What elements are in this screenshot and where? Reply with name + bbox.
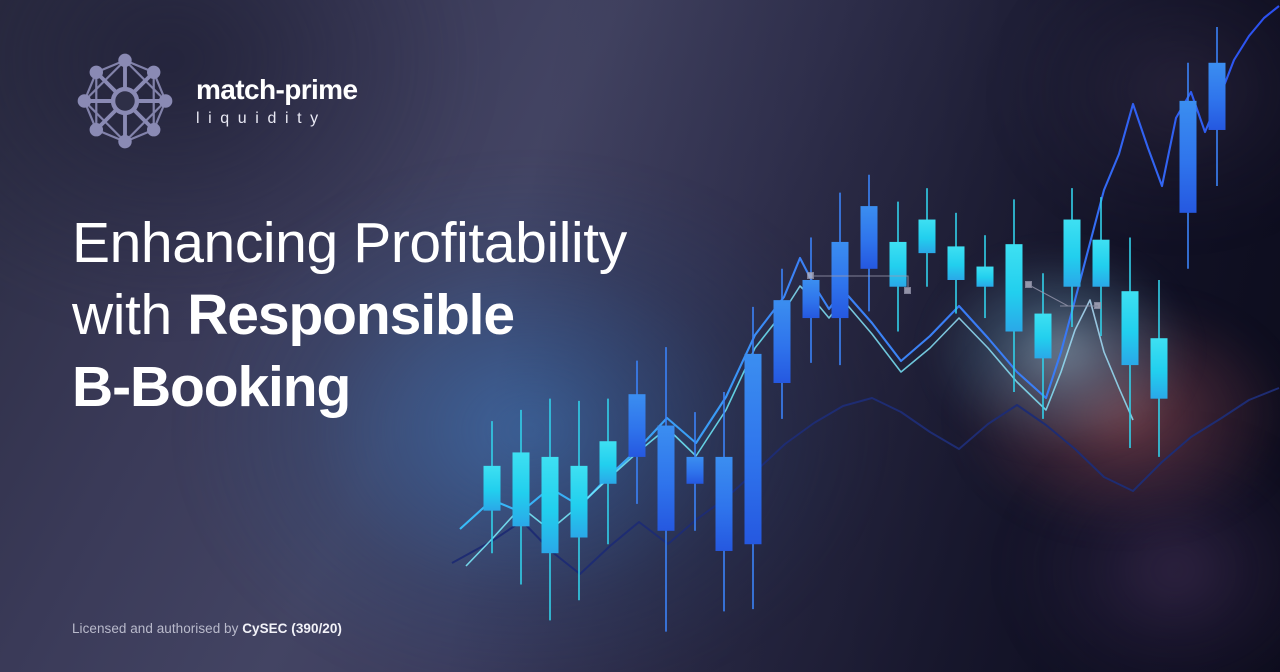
network-node-snowflake-icon	[72, 48, 178, 154]
headline-line-2-bold: Responsible	[187, 283, 514, 347]
candle-body	[687, 457, 704, 484]
candle-body	[484, 466, 501, 511]
license-prefix: Licensed and authorised by	[72, 621, 242, 636]
brand-wordmark: match-prime liquidity	[196, 72, 357, 129]
candle-body	[745, 354, 762, 544]
candle-body	[919, 220, 936, 254]
candle-body	[1209, 63, 1226, 130]
candle-body	[1035, 314, 1052, 359]
candle-body	[977, 267, 994, 287]
candle-body	[832, 242, 849, 318]
brand-subtitle: liquidity	[196, 108, 357, 130]
candle-body	[948, 246, 965, 280]
candle-body	[890, 242, 907, 287]
candle-body	[571, 466, 588, 538]
headline-line-2-light: with	[72, 283, 187, 347]
brand-logo[interactable]: match-prime liquidity	[72, 48, 357, 154]
candle-body	[1064, 220, 1081, 287]
candle-body	[1006, 244, 1023, 331]
banner-root: match-prime liquidity Enhancing Profitab…	[0, 0, 1280, 672]
candle-body	[774, 300, 791, 383]
headline-line-3: B-Booking	[72, 351, 712, 423]
brand-name: match-prime	[196, 76, 357, 105]
candle-body	[513, 452, 530, 526]
candle-body	[600, 441, 617, 484]
candle-body	[1093, 240, 1110, 287]
headline-line-1: Enhancing Profitability	[72, 207, 712, 279]
page-title: Enhancing Profitability with Responsible…	[72, 207, 712, 423]
license-authority: CySEC (390/20)	[242, 621, 342, 636]
candle-body	[1180, 101, 1197, 213]
candle-body	[542, 457, 559, 553]
license-notice: Licensed and authorised by CySEC (390/20…	[72, 621, 342, 636]
candle-body	[716, 457, 733, 551]
headline-line-2: with Responsible	[72, 279, 712, 351]
candle-body	[1151, 338, 1168, 398]
candle-body	[1122, 291, 1139, 365]
candle-body	[803, 280, 820, 318]
candle-body	[658, 426, 675, 531]
candle-body	[861, 206, 878, 269]
